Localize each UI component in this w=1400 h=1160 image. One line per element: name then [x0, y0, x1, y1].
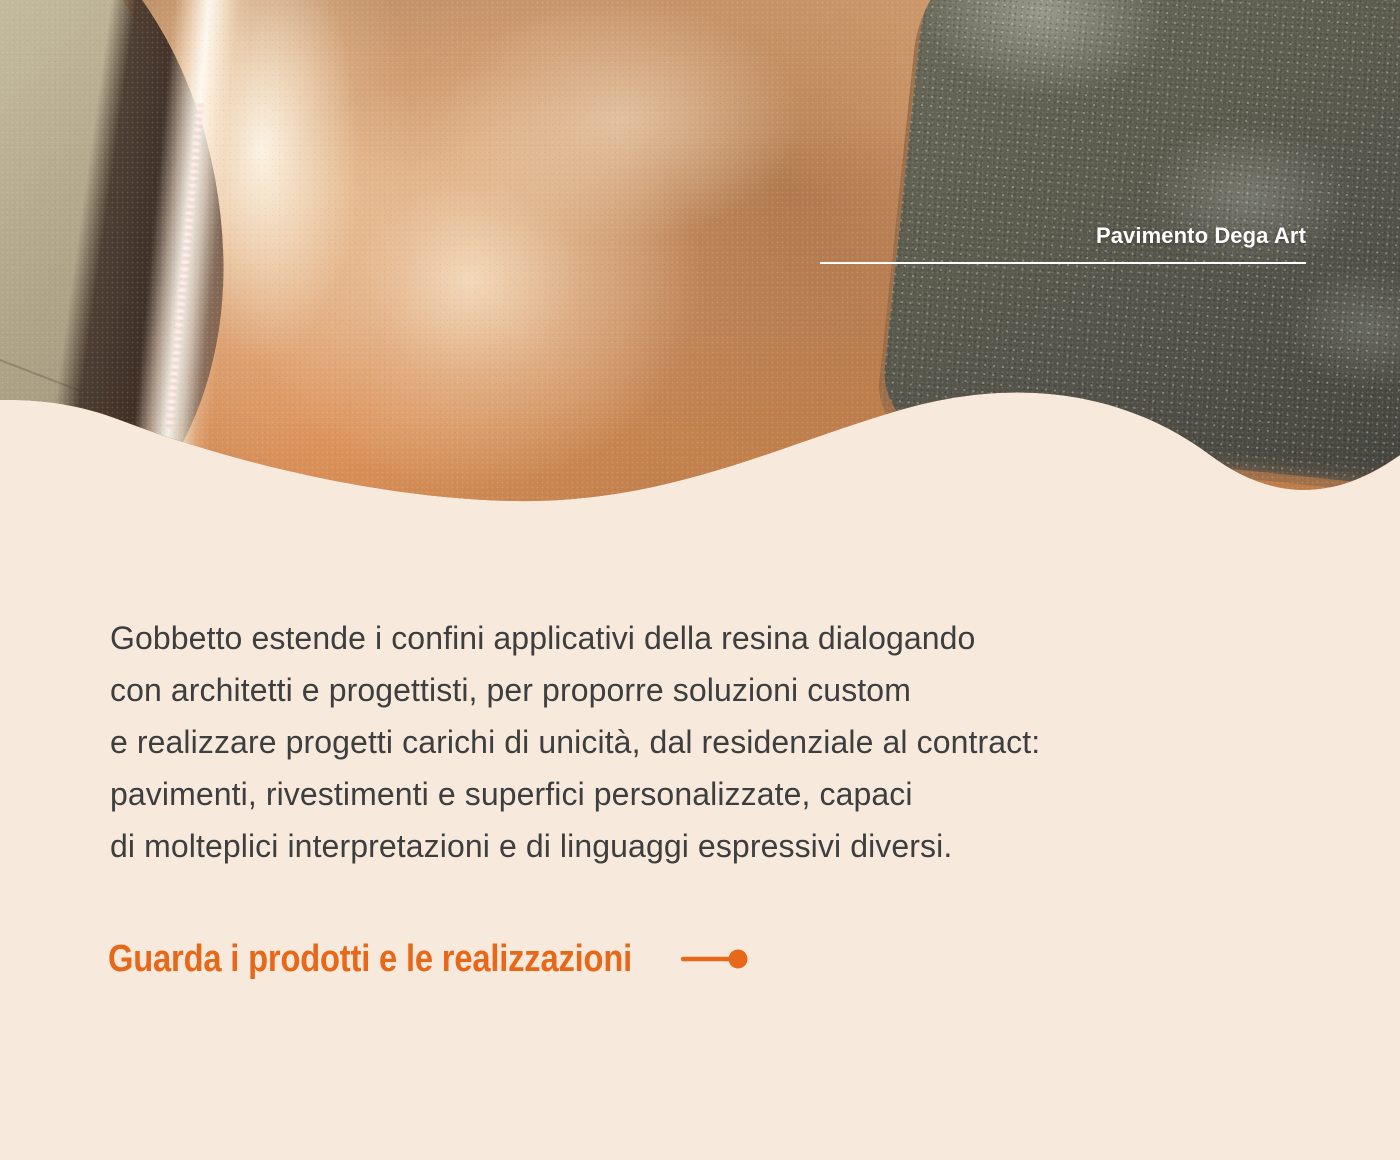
paragraph-line: e realizzare progetti carichi di unicità…: [110, 716, 1330, 768]
paragraph-line: di molteplici interpretazioni e di lingu…: [110, 820, 1330, 872]
products-cta-label: Guarda i prodotti e le realizzazioni: [108, 940, 632, 978]
intro-paragraph: Gobbetto estende i confini applicativi d…: [110, 612, 1330, 872]
hero-caption-label: Pavimento Dega Art: [820, 222, 1306, 250]
hero-caption-rule: [820, 262, 1306, 264]
paragraph-line: pavimenti, rivestimenti e superfici pers…: [110, 768, 1330, 820]
hero-caption: Pavimento Dega Art: [820, 222, 1306, 264]
products-cta-link[interactable]: Guarda i prodotti e le realizzazioni: [108, 940, 751, 978]
page-root: Pavimento Dega Art Gobbetto estende i co…: [0, 0, 1400, 1160]
paragraph-line: con architetti e progettisti, per propor…: [110, 664, 1330, 716]
arrow-line-dot-icon: [681, 946, 751, 972]
paragraph-line: Gobbetto estende i confini applicativi d…: [110, 612, 1330, 664]
intro-text-block: Gobbetto estende i confini applicativi d…: [110, 612, 1330, 872]
